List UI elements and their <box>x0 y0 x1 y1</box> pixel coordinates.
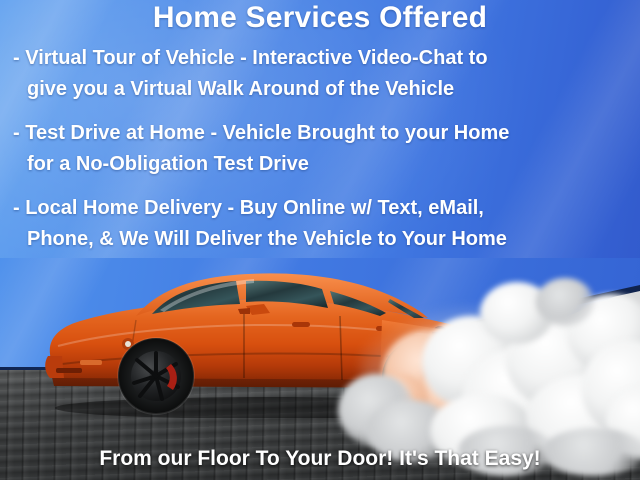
service-item-test-drive: - Test Drive at Home - Vehicle Brought t… <box>0 118 640 180</box>
service-line-2: for a No-Obligation Test Drive <box>13 149 632 180</box>
ad-copy-block: Home Services Offered - Virtual Tour of … <box>0 0 640 268</box>
challenger-car-illustration <box>40 268 520 418</box>
services-list: - Virtual Tour of Vehicle - Interactive … <box>0 43 640 255</box>
rear-wheel <box>382 340 458 416</box>
service-line-1: - Test Drive at Home - Vehicle Brought t… <box>13 122 509 144</box>
page-title: Home Services Offered <box>0 0 640 35</box>
service-line-1: - Virtual Tour of Vehicle - Interactive … <box>13 47 488 69</box>
service-item-home-delivery: - Local Home Delivery - Buy Online w/ Te… <box>0 193 640 255</box>
home-services-ad-card: Home Services Offered - Virtual Tour of … <box>0 0 640 480</box>
service-line-1: - Local Home Delivery - Buy Online w/ Te… <box>13 197 484 219</box>
tagline: From our Floor To Your Door! It's That E… <box>0 447 640 471</box>
service-line-2: Phone, & We Will Deliver the Vehicle to … <box>13 224 632 255</box>
front-wheel <box>118 338 194 414</box>
service-line-2: give you a Virtual Walk Around of the Ve… <box>13 74 632 105</box>
service-item-virtual-tour: - Virtual Tour of Vehicle - Interactive … <box>0 43 640 105</box>
